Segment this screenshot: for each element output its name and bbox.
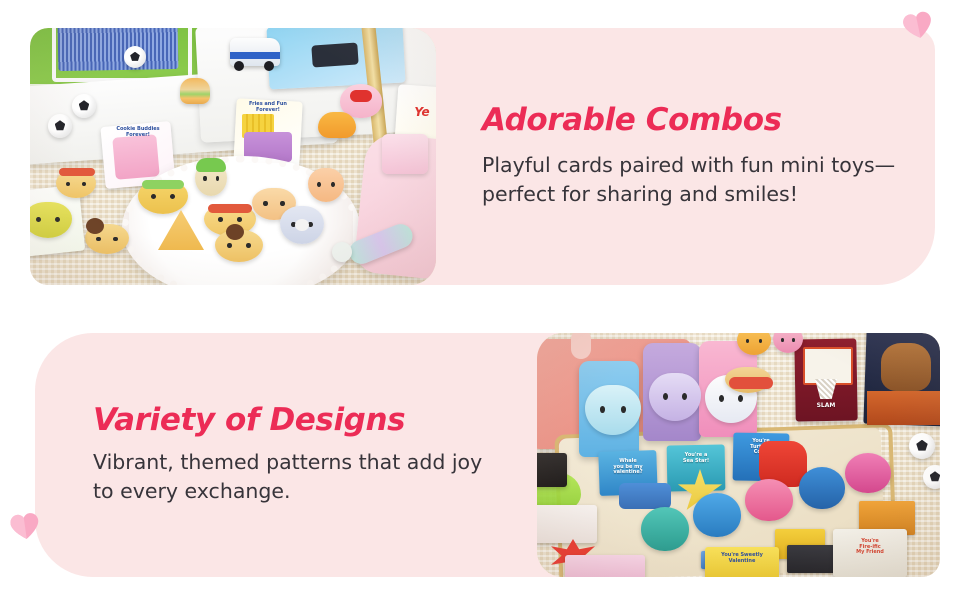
feature-body: Vibrant, themed patterns that add joy to… bbox=[93, 448, 507, 506]
promo-banner: Cookie BuddiesForever! Fries and FunFore… bbox=[0, 0, 970, 600]
feature-text-variety-of-designs: Variety of Designs Vibrant, themed patte… bbox=[35, 333, 537, 577]
feature-headline: Adorable Combos bbox=[482, 104, 905, 137]
photo-vignette-2 bbox=[537, 333, 940, 577]
feature-image-variety-of-designs: Whaleyou be myvalentine? You're aSea Sta… bbox=[537, 333, 940, 577]
feature-text-adorable-combos: Adorable Combos Playful cards paired wit… bbox=[436, 28, 935, 285]
heart-icon-bottom-left bbox=[8, 511, 41, 542]
feature-headline: Variety of Designs bbox=[93, 404, 507, 437]
photo-scene-2: Whaleyou be myvalentine? You're aSea Sta… bbox=[537, 333, 940, 577]
feature-body: Playful cards paired with fun mini toys—… bbox=[482, 151, 902, 209]
photo-scene-1: Cookie BuddiesForever! Fries and FunFore… bbox=[30, 28, 436, 285]
photo-vignette-1 bbox=[30, 28, 436, 285]
feature-card-adorable-combos: Cookie BuddiesForever! Fries and FunFore… bbox=[30, 28, 935, 285]
feature-card-variety-of-designs: Variety of Designs Vibrant, themed patte… bbox=[35, 333, 940, 577]
feature-image-adorable-combos: Cookie BuddiesForever! Fries and FunFore… bbox=[30, 28, 436, 285]
